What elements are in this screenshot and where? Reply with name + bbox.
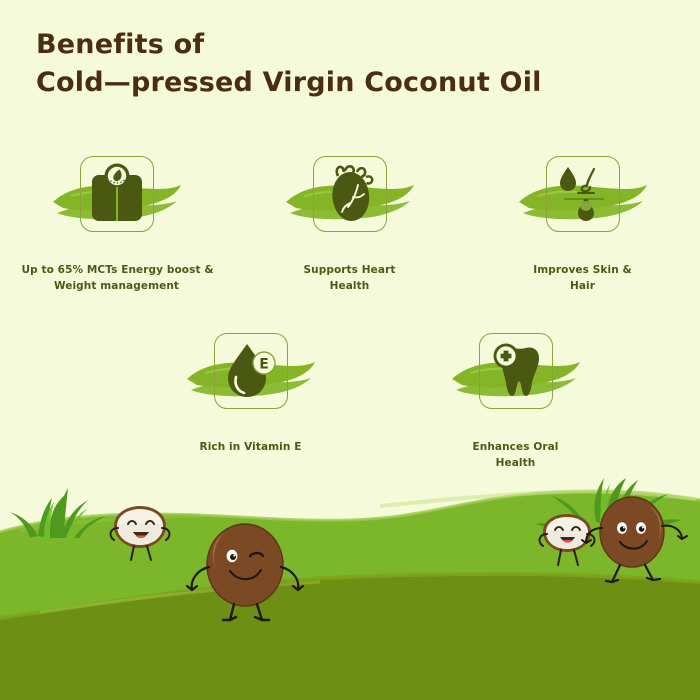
infographic-canvas: Benefits of Cold—pressed Virgin Coconut … [0,0,700,700]
benefit-icon-frame [80,156,154,232]
benefit-icon-wrap [452,317,580,425]
coconut-mascots-scene [0,470,700,700]
caption-line: Up to 65% MCTs Energy boost & [22,262,212,278]
caption-line: Improves Skin & [533,262,632,278]
caption-line: Health [304,278,396,294]
benefit-icon-wrap [286,140,414,248]
benefit-item-vitamin-e[interactable]: E Rich in Vitamin E [118,317,383,472]
weight-scale-icon [89,164,145,224]
benefits-row-1: Up to 65% MCTs Energy boost & Weight man… [0,140,700,295]
page-title-line-1: Benefits of [36,26,636,64]
benefit-icon-wrap [519,140,647,248]
benefit-caption: Improves Skin & Hair [533,262,632,295]
page-title-line-2: Cold—pressed Virgin Coconut Oil [36,64,636,102]
benefits-grid: Up to 65% MCTs Energy boost & Weight man… [0,140,700,471]
benefit-caption: Supports Heart Health [304,262,396,295]
oil-droplet-vitamin-e-icon: E [222,341,280,401]
tooth-medical-cross-icon [487,341,545,401]
caption-line: Enhances Oral [472,439,558,455]
caption-line: Weight management [22,278,212,294]
benefits-row-2: E Rich in Vitamin E [0,317,700,472]
benefit-caption: Enhances Oral Health [472,439,558,472]
caption-line: Hair [533,278,632,294]
benefit-icon-wrap [53,140,181,248]
benefit-icon-wrap: E [187,317,315,425]
svg-text:E: E [259,356,269,372]
benefit-icon-frame [479,333,553,409]
benefit-caption: Rich in Vitamin E [200,439,302,455]
benefit-icon-frame [313,156,387,232]
benefit-icon-frame [546,156,620,232]
benefit-icon-frame: E [214,333,288,409]
page-title: Benefits of Cold—pressed Virgin Coconut … [36,26,636,103]
caption-line: Health [472,455,558,471]
benefit-caption: Up to 65% MCTs Energy boost & Weight man… [22,262,212,295]
scene-illustration [0,470,700,700]
caption-line: Supports Heart [304,262,396,278]
benefit-item-heart-health[interactable]: Supports Heart Health [233,140,466,295]
benefit-item-oral-health[interactable]: Enhances Oral Health [383,317,648,472]
hair-follicle-droplet-icon [554,163,612,225]
benefit-item-skin-and-hair[interactable]: Improves Skin & Hair [466,140,699,295]
anatomical-heart-icon [321,163,379,225]
benefit-item-weight-management[interactable]: Up to 65% MCTs Energy boost & Weight man… [0,140,233,295]
caption-line: Rich in Vitamin E [200,439,302,455]
